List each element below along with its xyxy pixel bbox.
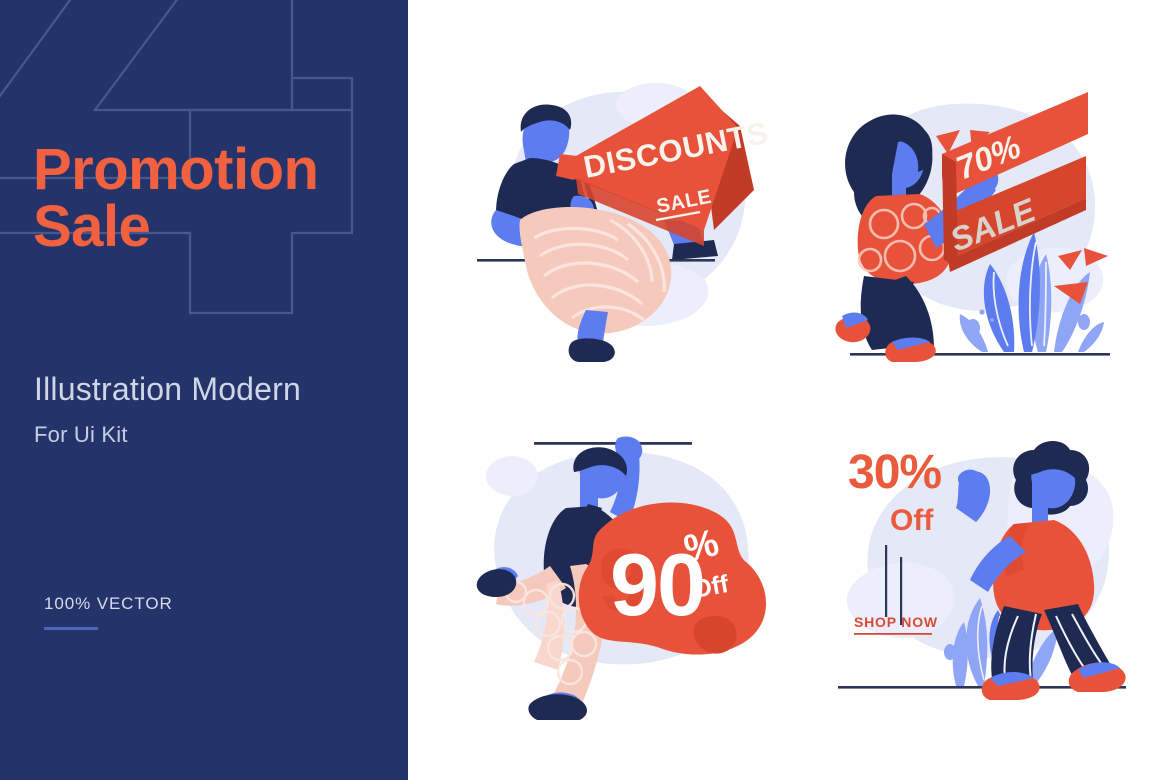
shop-now-link[interactable]: SHOP NOW: [854, 614, 938, 630]
page-title-line1: Promotion: [33, 137, 318, 202]
overhead-bar: [534, 442, 692, 445]
shop-now-underline: [854, 633, 932, 635]
page-title-line2: Sale: [33, 198, 393, 255]
label-off: Off: [890, 504, 934, 537]
sidebar-panel: Promotion Sale Illustration Modern For U…: [0, 0, 408, 780]
vector-badge-label: 100% VECTOR: [44, 594, 173, 614]
illustration-70-sale: 70% SALE: [832, 70, 1122, 370]
illustration-discounts-sale: DISCOUNTS SALE: [468, 70, 788, 370]
subtitle-primary: Illustration Modern: [34, 371, 301, 408]
label-30-percent: 30%: [848, 446, 941, 499]
poster-canvas: Promotion Sale Illustration Modern For U…: [0, 0, 1170, 780]
page-title: Promotion Sale: [33, 141, 393, 256]
accent-rule-long: [885, 545, 887, 617]
vector-badge-rule: [44, 627, 98, 630]
subtitle-secondary: For Ui Kit: [34, 422, 128, 448]
illustration-90-off: 9 90 % Off: [470, 420, 790, 720]
illustration-30-off: 30% Off SHOP NOW: [828, 420, 1148, 720]
